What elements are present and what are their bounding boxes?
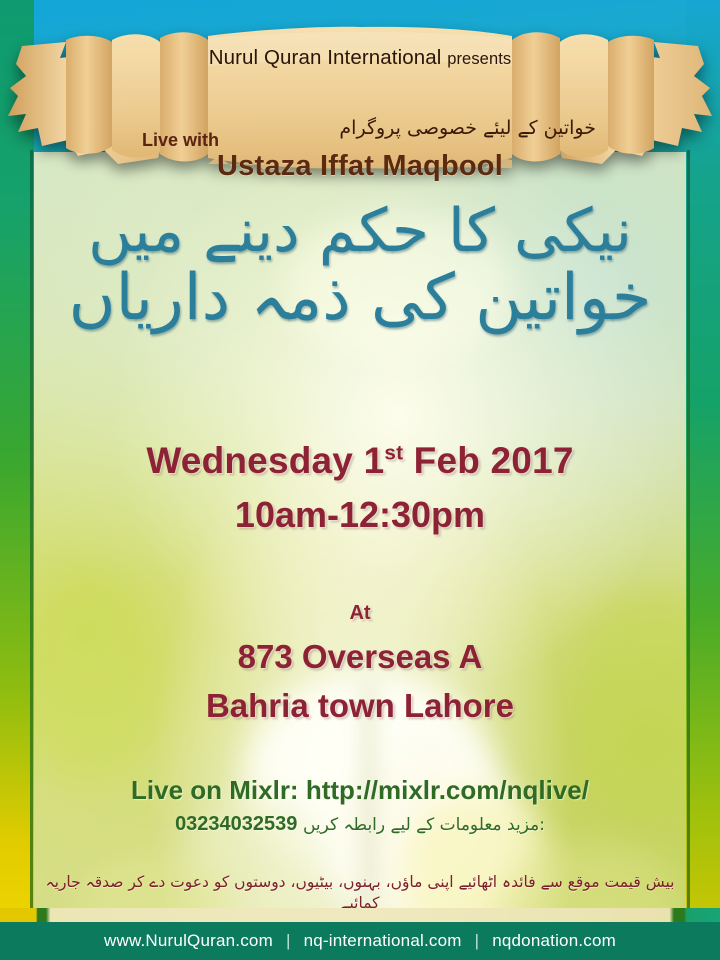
left-inner-rule bbox=[30, 150, 33, 940]
footer-link-nq-international[interactable]: nq-international.com bbox=[304, 931, 462, 951]
presents-label: presents bbox=[447, 50, 511, 68]
event-date: Wednesday 1st Feb 2017 bbox=[34, 440, 686, 482]
footer-separator-1: | bbox=[286, 931, 291, 951]
event-date-ordinal: st bbox=[384, 442, 403, 465]
venue-at-label: At bbox=[34, 602, 686, 625]
scroll-banner bbox=[8, 18, 712, 170]
footer-link-nqdonation[interactable]: nqdonation.com bbox=[492, 931, 616, 951]
right-inner-rule bbox=[687, 150, 690, 940]
banner-urdu-subtitle: خواتین کے لیئے خصوصی پروگرام bbox=[306, 118, 596, 139]
scroll-roll-l1 bbox=[66, 36, 112, 154]
event-poster: Nurul Quran International presents خواتی… bbox=[0, 0, 720, 960]
mixlr-link[interactable]: Live on Mixlr: http://mixlr.com/nqlive/ bbox=[34, 775, 686, 806]
footer-gold-strip bbox=[0, 908, 720, 922]
event-day: Wednesday bbox=[146, 440, 353, 481]
footer-links: www.NurulQuran.com | nq-international.co… bbox=[104, 931, 616, 951]
main-title-line-2: خواتین کی ذمہ داریاں bbox=[34, 261, 686, 337]
main-title: نیکی کا حکم دینے میں خواتین کی ذمہ داریا… bbox=[34, 196, 686, 336]
organization-name: Nurul Quran International bbox=[209, 46, 442, 69]
organization-line: Nurul Quran International presents bbox=[120, 46, 600, 70]
event-time: 10am-12:30pm bbox=[34, 494, 686, 536]
contact-row: 03234032539 مزید معلومات کے لیے رابطہ کر… bbox=[34, 813, 686, 836]
contact-phone-number[interactable]: 03234032539 bbox=[175, 813, 297, 835]
scroll-roll-r1 bbox=[608, 36, 654, 154]
event-month-year: Feb 2017 bbox=[414, 440, 574, 481]
scroll-banner-shape bbox=[8, 18, 712, 170]
scroll-banner-text: Nurul Quran International presents خواتی… bbox=[120, 46, 600, 70]
venue-address-line-2: Bahria town Lahore bbox=[34, 687, 686, 725]
live-with-label: Live with bbox=[142, 130, 219, 151]
contact-urdu-label: مزید معلومات کے لیے رابطہ کریں: bbox=[303, 815, 545, 835]
speaker-name: Ustaza Iffat Maqbool bbox=[120, 150, 600, 183]
footer-link-nurulquran[interactable]: www.NurulQuran.com bbox=[104, 931, 273, 951]
main-title-line-1: نیکی کا حکم دینے میں bbox=[34, 196, 686, 267]
footer-separator-2: | bbox=[475, 931, 480, 951]
event-date-number: 1 bbox=[364, 440, 385, 481]
footer-bar: www.NurulQuran.com | nq-international.co… bbox=[0, 922, 720, 960]
venue-address-line-1: 873 Overseas A bbox=[34, 638, 686, 676]
